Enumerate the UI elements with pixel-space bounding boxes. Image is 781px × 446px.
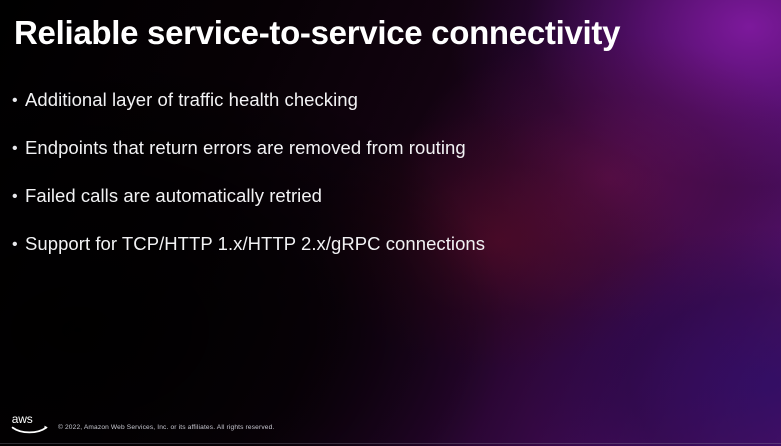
presentation-slide: Reliable service-to-service connectivity… [0, 0, 781, 446]
list-item: • Additional layer of traffic health che… [12, 88, 652, 136]
bullet-dot-icon: • [12, 137, 25, 161]
list-item-label: Failed calls are automatically retried [25, 184, 652, 208]
copyright-text: © 2022, Amazon Web Services, Inc. or its… [58, 424, 274, 431]
bullet-dot-icon: • [12, 233, 25, 257]
list-item: • Endpoints that return errors are remov… [12, 136, 652, 184]
aws-smile-logo-icon: aws [11, 410, 51, 434]
list-item: • Support for TCP/HTTP 1.x/HTTP 2.x/gRPC… [12, 232, 652, 280]
svg-text:aws: aws [12, 412, 33, 426]
bullet-dot-icon: • [12, 89, 25, 113]
bullet-dot-icon: • [12, 185, 25, 209]
list-item: • Failed calls are automatically retried [12, 184, 652, 232]
list-item-label: Endpoints that return errors are removed… [25, 136, 652, 160]
list-item-label: Additional layer of traffic health check… [25, 88, 652, 112]
list-item-label: Support for TCP/HTTP 1.x/HTTP 2.x/gRPC c… [25, 232, 652, 256]
bullet-list: • Additional layer of traffic health che… [12, 88, 652, 280]
slide-content: Reliable service-to-service connectivity… [0, 0, 781, 446]
slide-title: Reliable service-to-service connectivity [14, 12, 620, 53]
footer-divider [0, 443, 781, 444]
slide-footer: aws © 2022, Amazon Web Services, Inc. or… [0, 402, 781, 446]
